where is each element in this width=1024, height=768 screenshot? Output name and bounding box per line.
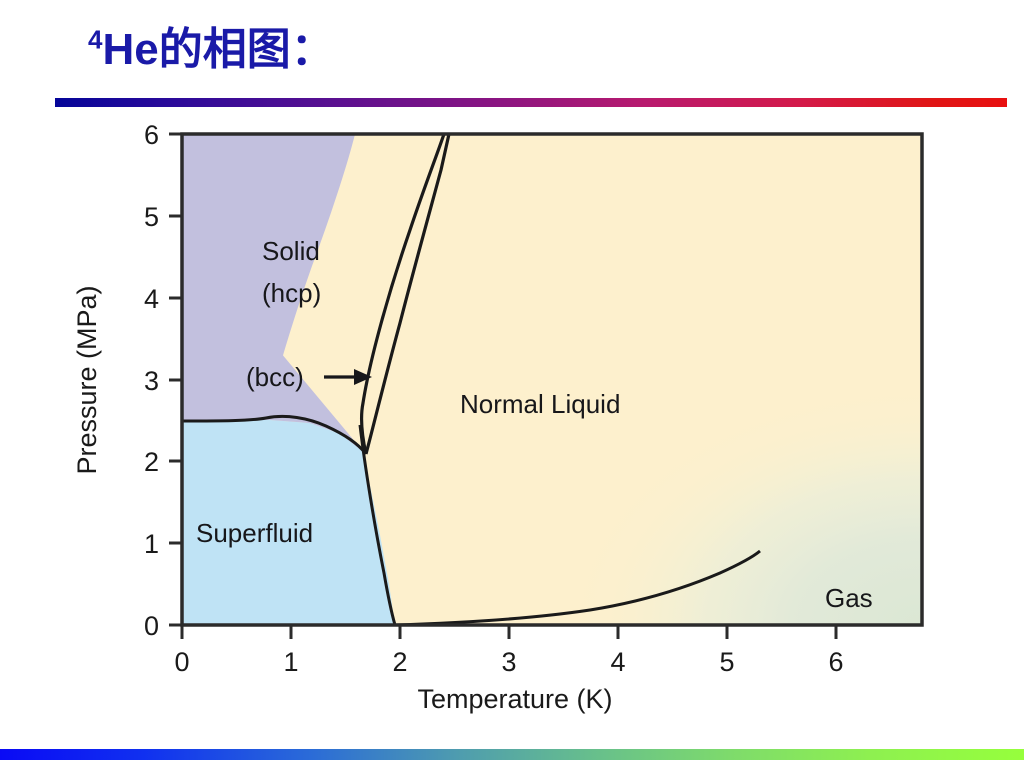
footer-divider-bar	[0, 749, 1024, 760]
x-tick-labels: 0 1 2 3 4 5 6	[174, 647, 843, 677]
phase-diagram-svg: 6 5 4 3 2 1 0 0 1 2 3 4 5 6 Temp	[60, 118, 960, 718]
region-label-normal-liquid: Normal Liquid	[460, 389, 620, 419]
y-tick-1: 1	[144, 529, 159, 559]
x-axis-ticks	[182, 625, 836, 639]
region-label-solid-hcp: (hcp)	[262, 278, 321, 308]
y-axis-label: Pressure (MPa)	[72, 285, 102, 474]
x-tick-2: 2	[392, 647, 407, 677]
title-divider-bar	[55, 98, 1007, 107]
y-axis-ticks	[169, 134, 182, 625]
page-title: 4He的相图：	[88, 28, 335, 72]
title-superscript: 4	[88, 24, 102, 54]
x-tick-3: 3	[501, 647, 516, 677]
region-label-gas: Gas	[825, 583, 873, 613]
title-main-text: He的相图：	[102, 25, 334, 74]
x-tick-6: 6	[828, 647, 843, 677]
x-tick-1: 1	[283, 647, 298, 677]
y-tick-0: 0	[144, 611, 159, 641]
y-tick-labels: 6 5 4 3 2 1 0	[144, 120, 159, 641]
y-tick-4: 4	[144, 284, 159, 314]
x-tick-5: 5	[719, 647, 734, 677]
region-label-solid-bcc: (bcc)	[246, 362, 304, 392]
y-tick-5: 5	[144, 202, 159, 232]
x-axis-label: Temperature (K)	[417, 684, 612, 714]
region-label-superfluid: Superfluid	[196, 518, 313, 548]
y-tick-2: 2	[144, 447, 159, 477]
y-tick-3: 3	[144, 366, 159, 396]
y-tick-6: 6	[144, 120, 159, 150]
region-label-solid: Solid	[262, 236, 320, 266]
x-tick-0: 0	[174, 647, 189, 677]
phase-diagram-figure: 6 5 4 3 2 1 0 0 1 2 3 4 5 6 Temp	[60, 118, 960, 718]
x-tick-4: 4	[610, 647, 625, 677]
